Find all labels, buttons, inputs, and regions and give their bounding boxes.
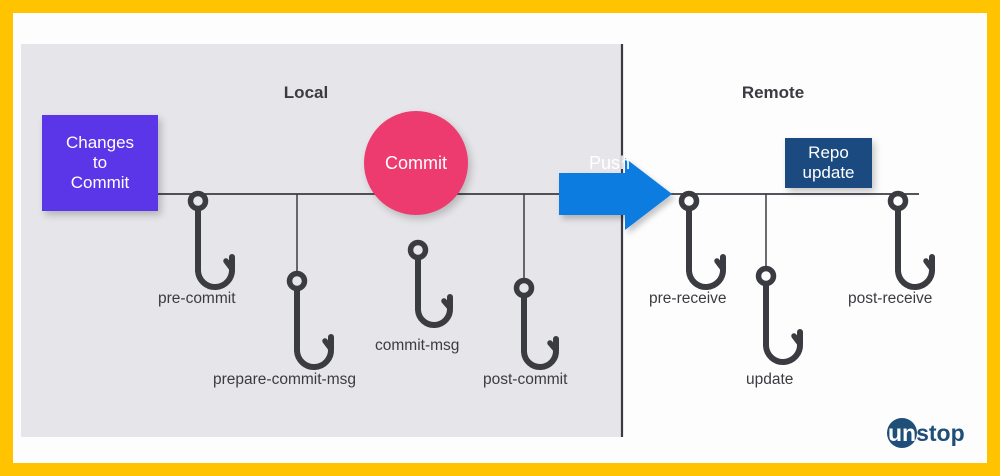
hook-label-pre-commit: pre-commit — [158, 290, 236, 308]
hook-label-commit-msg: commit-msg — [375, 337, 459, 355]
repo-line-2: update — [803, 163, 855, 183]
hook-icon-post-receive — [891, 194, 933, 288]
hook-label-post-receive: post-receive — [848, 290, 932, 308]
hook-icon-update — [759, 269, 801, 363]
panel-title-remote: Remote — [713, 83, 833, 103]
changes-line-2: to — [66, 153, 134, 173]
unstop-logo[interactable]: unstop — [885, 417, 975, 451]
hook-label-post-commit: post-commit — [483, 371, 567, 389]
repo-line-1: Repo — [803, 143, 855, 163]
hook-label-prepare-commit-msg: prepare-commit-msg — [213, 371, 356, 389]
changes-line-3: Commit — [66, 173, 134, 193]
hook-icon-pre-receive — [682, 194, 724, 288]
hook-label-pre-receive: pre-receive — [649, 290, 727, 308]
diagram-frame: Local Remote Changes to Commit Commit Pu… — [0, 0, 1000, 476]
commit-label: Commit — [385, 153, 447, 174]
panel-title-local: Local — [246, 83, 366, 103]
diagram-canvas — [13, 13, 987, 463]
changes-line-1: Changes — [66, 133, 134, 153]
node-changes-to-commit[interactable]: Changes to Commit — [42, 115, 158, 211]
diagram-stage: Local Remote Changes to Commit Commit Pu… — [13, 13, 987, 463]
unstop-logo-text: unstop — [888, 420, 965, 446]
node-commit[interactable]: Commit — [364, 111, 468, 215]
hook-label-update: update — [746, 371, 793, 389]
node-repo-update[interactable]: Repo update — [785, 138, 872, 188]
